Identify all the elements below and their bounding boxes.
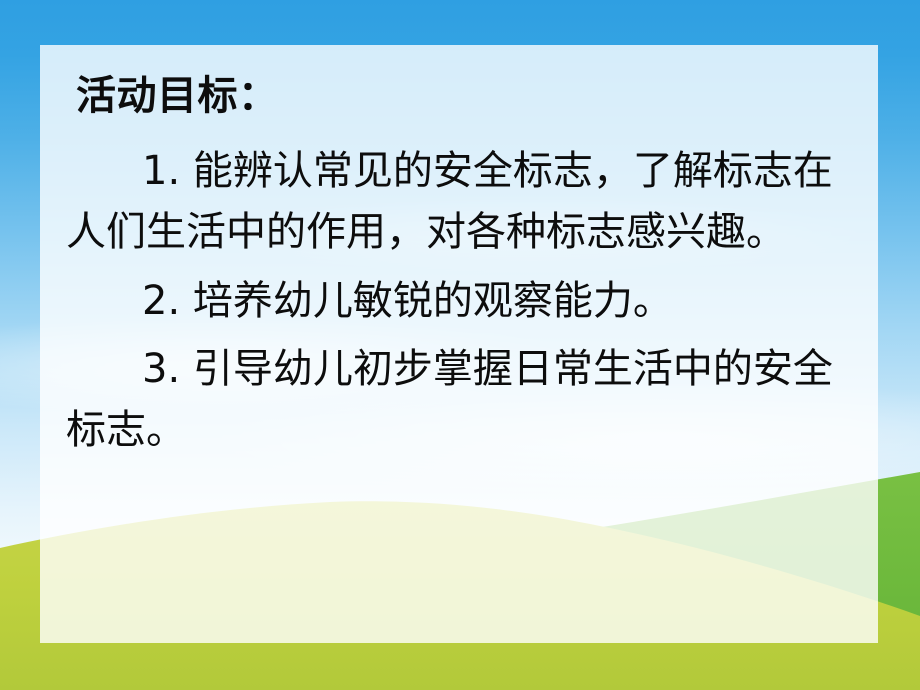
objective-item-3: 3. 引导幼儿初步掌握日常生活中的安全标志。 bbox=[66, 339, 852, 461]
content-panel: 活动目标： 1. 能辨认常见的安全标志，了解标志在人们生活中的作用，对各种标志感… bbox=[40, 45, 878, 643]
page-title: 活动目标： bbox=[76, 73, 852, 119]
objective-item-1: 1. 能辨认常见的安全标志，了解标志在人们生活中的作用，对各种标志感兴趣。 bbox=[66, 141, 852, 263]
objectives-list: 1. 能辨认常见的安全标志，了解标志在人们生活中的作用，对各种标志感兴趣。 2.… bbox=[66, 141, 852, 461]
slide-canvas: 活动目标： 1. 能辨认常见的安全标志，了解标志在人们生活中的作用，对各种标志感… bbox=[0, 0, 920, 690]
objective-item-2: 2. 培养幼儿敏锐的观察能力。 bbox=[66, 271, 852, 332]
